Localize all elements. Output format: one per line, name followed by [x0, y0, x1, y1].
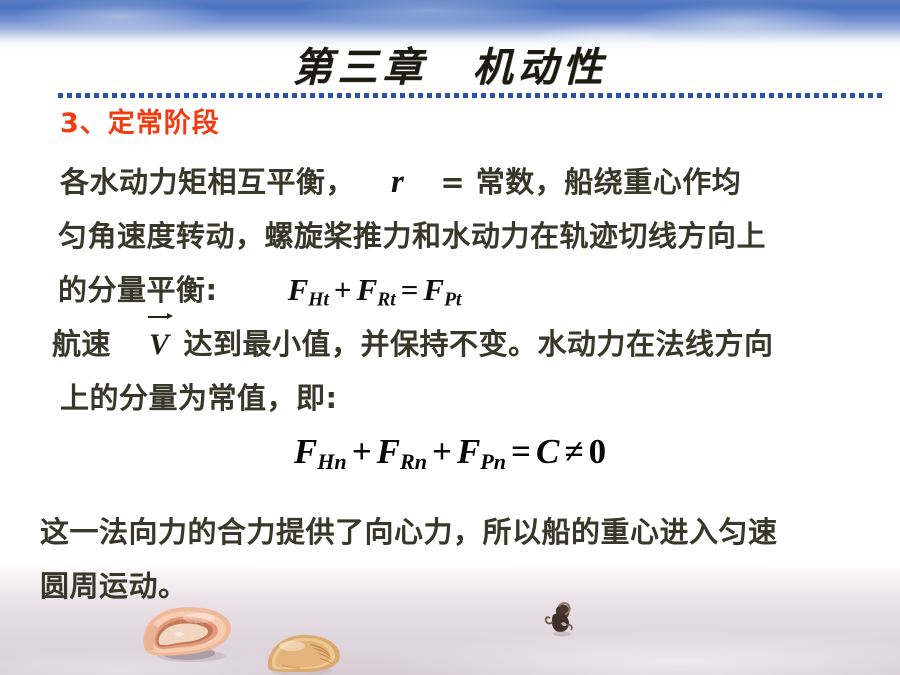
- body-line-1-text-b: 常数，船绕重心作均: [476, 165, 742, 199]
- term-fhn-base: F: [294, 432, 317, 471]
- term-fht-sub: Ht: [308, 289, 329, 310]
- formula-operator-equals: =: [396, 272, 424, 307]
- display-rhs-constant: C: [536, 432, 559, 471]
- body-line-4: 航速V达到最小值，并保持不变。水动力在法线方向: [0, 317, 900, 371]
- formula-inline-label: 的分量平衡:: [58, 273, 218, 307]
- body-line-2: 匀角速度转动，螺旋桨推力和水动力在轨迹切线方向上: [0, 209, 900, 263]
- slide-title: 第三章 机动性: [0, 35, 900, 93]
- dotted-divider: [58, 93, 882, 98]
- body-line-5: 上的分量为常值，即:: [0, 371, 900, 425]
- display-formula: FHn+FRn+FPn=C≠0: [0, 432, 900, 475]
- term-fhn-sub: Hn: [317, 449, 346, 474]
- display-operator-plus-2: +: [427, 432, 457, 471]
- body-line-4-text-b: 达到最小值，并保持不变。水动力在法线方向: [184, 327, 774, 361]
- term-fpt-sub: Pt: [444, 289, 461, 310]
- vector-v-letter: V: [149, 328, 170, 361]
- term-frt-sub: Rt: [377, 289, 395, 310]
- term-fpn-sub: Pn: [480, 449, 506, 474]
- slide-body-closing: 这一法向力的合力提供了向心力，所以船的重心进入匀速 圆周运动。: [0, 505, 900, 613]
- term-fpn-base: F: [457, 432, 480, 471]
- slide-body: 各水动力矩相互平衡，r= 常数，船绕重心作均 匀角速度转动，螺旋桨推力和水动力在…: [0, 155, 900, 425]
- display-operator-noteq: ≠: [559, 432, 588, 471]
- math-vector-v: V: [147, 318, 172, 372]
- body-line-3: 的分量平衡:FHt+FRt=FPt: [0, 263, 900, 317]
- display-operator-equals: =: [506, 432, 536, 471]
- display-operator-plus-1: +: [347, 432, 377, 471]
- term-frn-base: F: [377, 432, 400, 471]
- term-fht-base: F: [288, 272, 309, 307]
- vector-arrowhead-icon: [167, 313, 173, 319]
- math-variable-r: r: [391, 164, 404, 200]
- math-equals-sign: =: [440, 165, 465, 199]
- formula-operator-plus: +: [329, 272, 357, 307]
- seashell-small-icon: [262, 632, 344, 675]
- formula-tangential: FHt+FRt=FPt: [288, 272, 462, 307]
- display-tail-zero: 0: [589, 432, 607, 471]
- body-line-1-text-a: 各水动力矩相互平衡，: [60, 165, 355, 199]
- body-line-6: 这一法向力的合力提供了向心力，所以船的重心进入匀速: [0, 505, 900, 559]
- term-frn-sub: Rn: [400, 449, 427, 474]
- section-heading: 3、定常阶段: [60, 101, 220, 140]
- body-line-1: 各水动力矩相互平衡，r= 常数，船绕重心作均: [0, 155, 900, 209]
- slide-canvas: 第三章 机动性 3、定常阶段 各水动力矩相互平衡，r= 常数，船绕重心作均 匀角…: [0, 0, 900, 675]
- term-fpt-base: F: [423, 272, 444, 307]
- body-line-7: 圆周运动。: [0, 559, 900, 613]
- formula-normal-components: FHn+FRn+FPn=C≠0: [294, 432, 606, 471]
- body-line-4-text-a: 航速: [52, 327, 111, 361]
- term-frt-base: F: [357, 272, 378, 307]
